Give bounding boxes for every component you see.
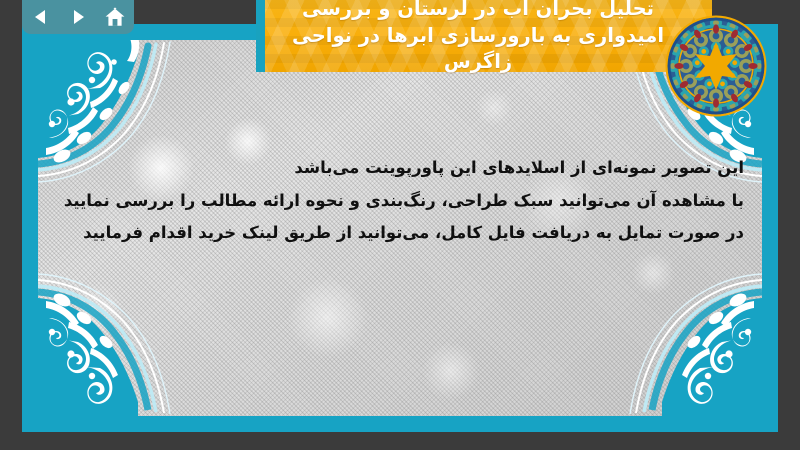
prev-arrow-icon [31,7,51,27]
arabesque-corner-icon-bottom-right [562,266,762,416]
arabesque-corner-icon-bottom-left [38,266,238,416]
slide-body-text: این تصویر نمونه‌ای از اسلایدهای این پاور… [38,152,744,250]
prev-slide-button[interactable] [27,4,55,30]
body-line-3: در صورت تمایل به دریافت فایل کامل، می‌تو… [68,217,744,250]
slide-title-banner: تحلیل بحران آب در لرستان و بررسی امیدوار… [256,0,712,72]
next-arrow-icon [68,7,88,27]
persian-medallion-icon [664,14,768,118]
next-slide-button[interactable] [64,4,92,30]
slide-viewer: این تصویر نمونه‌ای از اسلایدهای این پاور… [0,0,800,450]
page-title: تحلیل بحران آب در لرستان و بررسی امیدوار… [256,0,712,76]
body-line-1: این تصویر نمونه‌ای از اسلایدهای این پاور… [68,152,744,185]
body-line-2: با مشاهده آن می‌توانید سبک طراحی، رنگ‌بن… [68,185,744,218]
slide-content-area: این تصویر نمونه‌ای از اسلایدهای این پاور… [38,40,762,416]
navigation-toolbar [22,0,134,34]
home-button[interactable] [101,4,129,30]
home-icon [104,7,126,28]
